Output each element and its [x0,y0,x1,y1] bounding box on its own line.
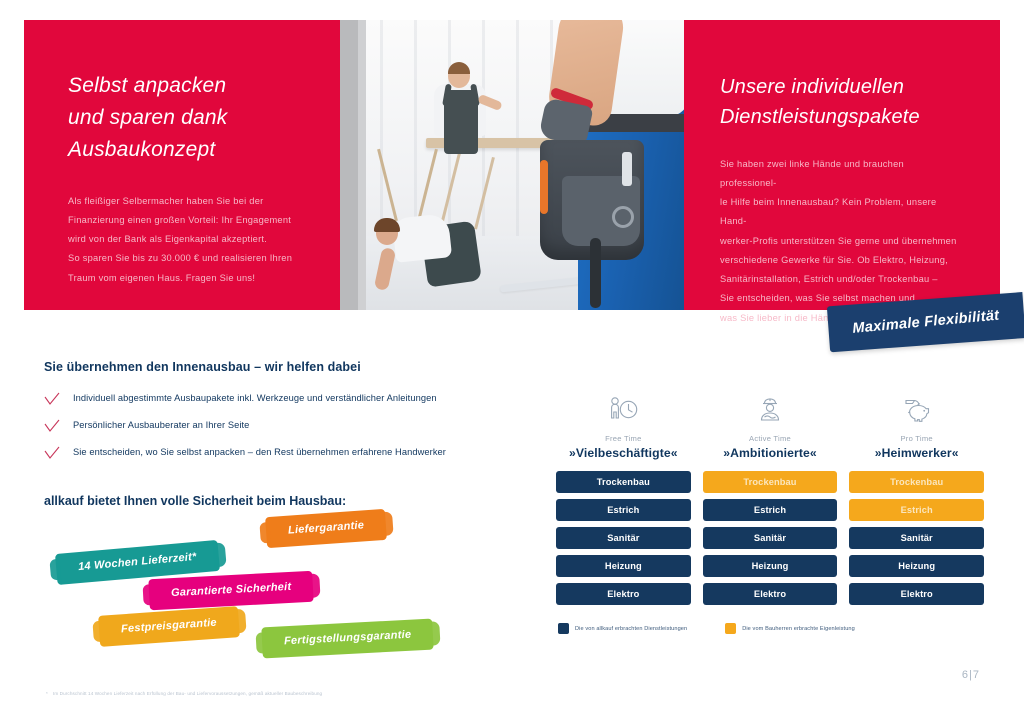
legend-label: Die von allkauf erbrachten Dienstleistun… [575,626,687,632]
package-row-estrich[interactable]: Estrich [849,499,984,521]
package-row-trockenbau[interactable]: Trockenbau [849,471,984,493]
footnote-text: Im Durchschnitt 14 Wochen Lieferzeit nac… [53,691,322,696]
photo-worker-kneeling [368,210,484,300]
package-row-heizung[interactable]: Heizung [703,555,838,577]
footnote: *Im Durchschnitt 14 Wochen Lieferzeit na… [46,691,322,696]
check-icon [44,419,60,433]
legend-item-allkauf: Die von allkauf erbrachten Dienstleistun… [558,623,687,634]
piggy-bank-icon [849,392,984,426]
package-row-elektro[interactable]: Elektro [703,583,838,605]
benefits-checklist: Individuell abgestimmte Ausbaupakete ink… [44,392,514,460]
person-clock-icon [556,392,691,426]
badge-liefergarantie: Liefergarantie [265,509,387,548]
checklist-label: Individuell abgestimmte Ausbaupakete ink… [73,392,437,404]
package-row-heizung[interactable]: Heizung [556,555,691,577]
checklist-label: Sie entscheiden, wo Sie selbst anpacken … [73,446,446,458]
package-subtitle: Active Time [703,434,838,443]
package-row-elektro[interactable]: Elektro [849,583,984,605]
ribbon-label: Maximale Flexibilität [852,308,1000,337]
legend-swatch-blue [558,623,569,634]
package-row-elektro[interactable]: Elektro [556,583,691,605]
package-column-ambitionierte[interactable]: Active Time »Ambitionierte« Trockenbau E… [703,392,838,605]
list-item: Sie entscheiden, wo Sie selbst anpacken … [44,446,514,460]
package-subtitle: Pro Time [849,434,984,443]
hero-right-title: Unsere individuellen Dienstleistungspake… [720,72,958,133]
page-number: 6|7 [962,669,980,681]
package-row-estrich[interactable]: Estrich [556,499,691,521]
hero-left-body: Als fleißiger Selbermacher haben Sie bei… [68,192,300,288]
checklist-label: Persönlicher Ausbauberater an Ihrer Seit… [73,419,249,431]
hero-panel-left: Selbst anpacken und sparen dank Ausbauko… [24,20,340,310]
list-item: Persönlicher Ausbauberater an Ihrer Seit… [44,419,514,433]
package-subtitle: Free Time [556,434,691,443]
photo-worker-background [426,64,496,168]
hero-left-title: Selbst anpacken und sparen dank Ausbauko… [68,70,300,166]
page-title: Sie übernehmen den Innenausbau – wir hel… [44,360,514,374]
package-row-trockenbau[interactable]: Trockenbau [703,471,838,493]
legend-swatch-orange [725,623,736,634]
hero-band: Selbst anpacken und sparen dank Ausbauko… [24,20,1000,310]
package-title: »Ambitionierte« [703,446,838,460]
service-packages: Free Time »Vielbeschäftigte« Trockenbau … [556,392,984,605]
worker-helmet-icon [703,392,838,426]
hero-panel-right: Unsere individuellen Dienstleistungspake… [684,20,1000,310]
badge-garantierte-sicherheit: Garantierte Sicherheit [148,571,314,611]
guarantee-badges: 14 Wochen Lieferzeit* Liefergarantie Gar… [44,505,464,670]
package-column-heimwerker[interactable]: Pro Time »Heimwerker« Trockenbau Estrich… [849,392,984,605]
package-row-estrich[interactable]: Estrich [703,499,838,521]
package-title: »Vielbeschäftigte« [556,446,691,460]
package-row-sanitaer[interactable]: Sanitär [849,527,984,549]
badge-festpreisgarantie: Festpreisgarantie [98,606,240,647]
package-column-vielbeschaeftigte[interactable]: Free Time »Vielbeschäftigte« Trockenbau … [556,392,691,605]
package-rows: Trockenbau Estrich Sanitär Heizung Elekt… [849,471,984,605]
package-title: »Heimwerker« [849,446,984,460]
package-row-sanitaer[interactable]: Sanitär [556,527,691,549]
left-content-column: Sie übernehmen den Innenausbau – wir hel… [44,360,514,508]
package-rows: Trockenbau Estrich Sanitär Heizung Elekt… [556,471,691,605]
package-rows: Trockenbau Estrich Sanitär Heizung Elekt… [703,471,838,605]
legend-label: Die vom Bauherren erbrachte Eigenleistun… [742,626,855,632]
badge-fertigstellungsgarantie: Fertigstellungsgarantie [261,619,434,659]
package-row-heizung[interactable]: Heizung [849,555,984,577]
hero-photo [340,20,684,310]
package-row-trockenbau[interactable]: Trockenbau [556,471,691,493]
photo-worker-foreground [544,20,684,310]
packages-legend: Die von allkauf erbrachten Dienstleistun… [558,623,855,634]
list-item: Individuell abgestimmte Ausbaupakete ink… [44,392,514,406]
check-icon [44,392,60,406]
check-icon [44,446,60,460]
footnote-marker: * [46,691,48,696]
package-row-sanitaer[interactable]: Sanitär [703,527,838,549]
legend-item-bauherr: Die vom Bauherren erbrachte Eigenleistun… [725,623,855,634]
